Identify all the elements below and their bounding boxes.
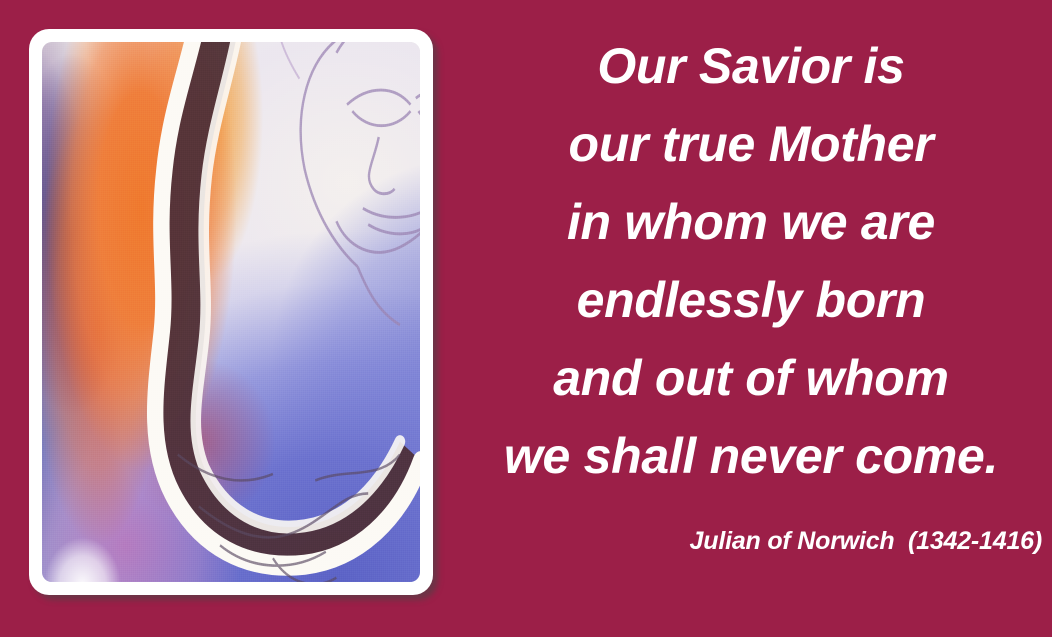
quote-text-block: Our Savior is our true Mother in whom we… (452, 27, 1050, 495)
artwork-layer-deep-purple (42, 42, 420, 582)
artwork-layer-indigo (42, 42, 420, 582)
artwork-image (42, 42, 420, 582)
quote-line-1: Our Savior is (452, 27, 1050, 105)
quote-line-4: endlessly born (452, 261, 1050, 339)
quote-line-3: in whom we are (452, 183, 1050, 261)
artwork-sleeping-face-sketch (42, 42, 420, 582)
artwork-layer-orange (42, 42, 420, 582)
artwork-frame (29, 29, 433, 595)
quote-line-2: our true Mother (452, 105, 1050, 183)
artwork-layer-paper (42, 42, 420, 582)
quote-line-5: and out of whom (452, 339, 1050, 417)
artwork-layer-blue-violet (42, 42, 420, 582)
artwork-layer-grain (42, 42, 420, 582)
artwork-layer-white-patch (42, 42, 420, 582)
quote-line-6: we shall never come. (452, 417, 1050, 495)
artwork-layer-brown-band (42, 42, 420, 582)
artwork-layer-magenta (42, 42, 420, 582)
quote-poster: Our Savior is our true Mother in whom we… (0, 0, 1052, 637)
artwork-layer-threads (42, 42, 420, 582)
artwork-layer-white-stripe (42, 42, 420, 582)
quote-attribution: Julian of Norwich (1342-1416) (690, 527, 1042, 556)
